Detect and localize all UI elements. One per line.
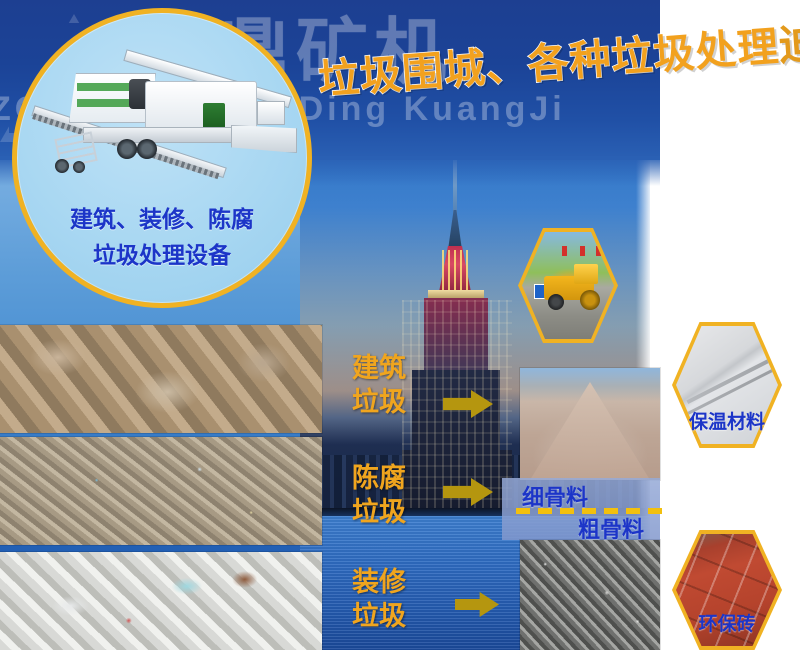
road-roller-photo xyxy=(522,232,614,339)
circle-caption-line1: 建筑、装修、陈腐 xyxy=(17,203,307,239)
poster-root: 中鼎矿机 ZOOMJO ZhongDing KuangJi 垃圾围城、各种垃圾处… xyxy=(0,0,800,650)
building-observation-deck xyxy=(428,290,484,298)
empire-state-building-graphic xyxy=(398,150,518,480)
coarse-aggregate-photo xyxy=(520,540,660,650)
fine-aggregate-photo xyxy=(520,368,660,480)
page-title-part2: 迫在眉睫 xyxy=(777,10,800,70)
discharge-tray xyxy=(231,125,297,153)
equipment-circle-badge: 建筑、装修、陈腐 垃圾处理设备 xyxy=(12,8,312,308)
building-mast xyxy=(448,210,462,250)
roadside-flag-3 xyxy=(596,246,601,256)
stale-waste-photo xyxy=(0,437,322,545)
aggregate-pile xyxy=(530,382,650,480)
waste-label-construction-line2: 垃圾 xyxy=(352,386,406,420)
roller-tyre xyxy=(548,294,564,310)
support-wheel-1 xyxy=(55,159,69,173)
coarse-aggregate-label: 粗骨料 xyxy=(578,512,644,544)
waste-label-renovation-line1: 装修 xyxy=(352,566,406,600)
waste-label-stale-line2: 垃圾 xyxy=(352,496,406,530)
waste-label-construction-line1: 建筑 xyxy=(352,352,406,386)
waste-label-construction: 建筑 垃圾 xyxy=(352,352,406,420)
roadside-flag-2 xyxy=(580,246,585,256)
renovation-waste-photo xyxy=(0,552,322,650)
roller-cab xyxy=(574,264,598,284)
construction-waste-photo xyxy=(0,325,322,433)
waste-label-stale: 陈腐 垃圾 xyxy=(352,462,406,530)
building-crown-lights xyxy=(442,250,468,290)
control-panel xyxy=(257,101,285,125)
roller-drum xyxy=(580,290,600,310)
fine-aggregate-label: 细骨料 xyxy=(522,480,588,512)
circle-caption: 建筑、装修、陈腐 垃圾处理设备 xyxy=(17,203,307,274)
chassis-wheel-2 xyxy=(137,139,157,159)
machine-motor xyxy=(203,103,225,129)
waste-label-renovation: 装修 垃圾 xyxy=(352,566,406,634)
waste-label-stale-line1: 陈腐 xyxy=(352,462,406,496)
circle-caption-line2: 垃圾处理设备 xyxy=(17,239,307,275)
roadside-flag-1 xyxy=(562,246,567,256)
support-wheel-2 xyxy=(73,161,85,173)
waste-label-renovation-line2: 垃圾 xyxy=(352,600,406,634)
insulation-slab-edge-1 xyxy=(686,356,775,404)
chassis-wheel-1 xyxy=(117,139,137,159)
crushing-plant-illustration xyxy=(25,39,303,189)
